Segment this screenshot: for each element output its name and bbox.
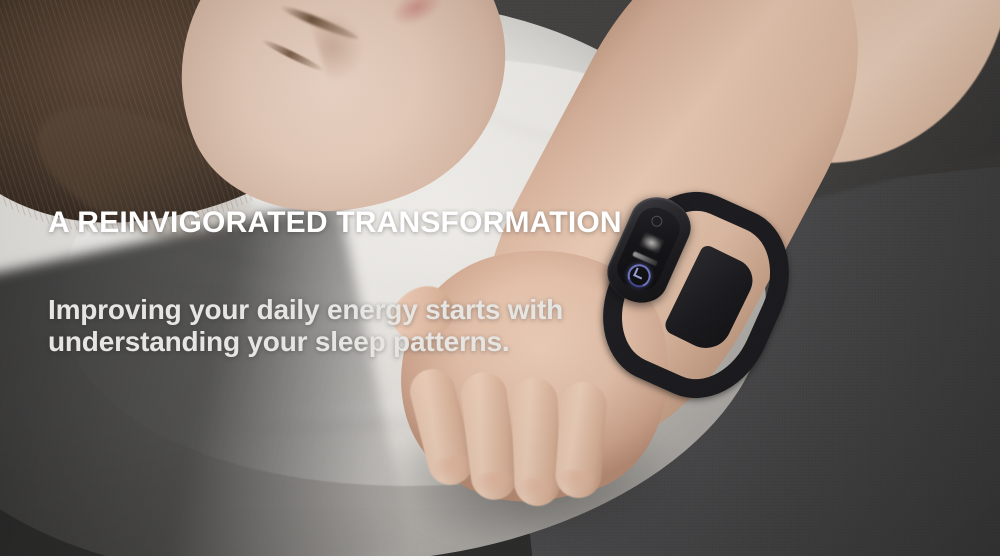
text-overlay: A REINVIGORATED TRANSFORMATION Improving…: [48, 206, 688, 357]
page-title: A REINVIGORATED TRANSFORMATION: [48, 206, 688, 240]
subtitle-line-1: Improving your daily energy starts with: [48, 294, 688, 326]
bottom-edge-rule: [0, 556, 1000, 560]
subtitle-line-2: understanding your sleep patterns.: [48, 326, 688, 358]
finger: [511, 377, 561, 507]
hero-banner: A REINVIGORATED TRANSFORMATION Improving…: [0, 0, 1000, 560]
subtitle: Improving your daily energy starts with …: [48, 294, 688, 358]
finger: [554, 381, 608, 500]
